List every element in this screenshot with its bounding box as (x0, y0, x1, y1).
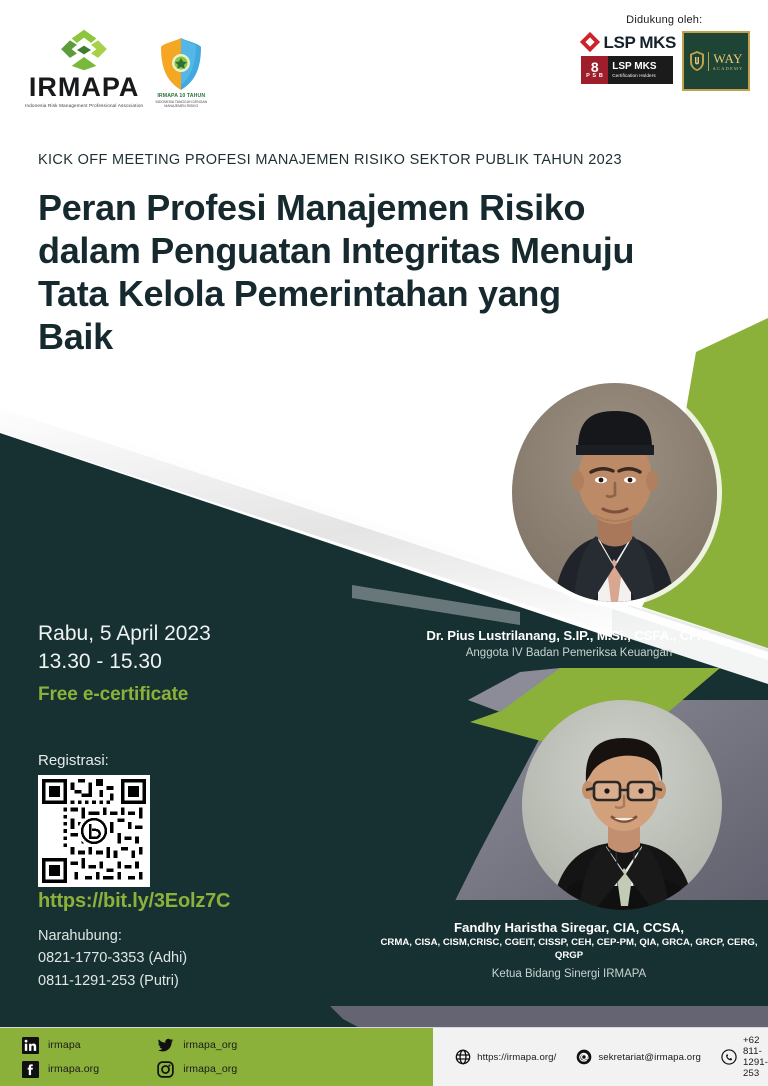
social-linkedin-handle: irmapa (48, 1039, 81, 1051)
anniversary-shield-icon (158, 37, 204, 91)
anniversary-logo: IRMAPA 10 TAHUN INDONESIA TANGGUH DENGAN… (153, 37, 209, 109)
supporters-group: Didukung oleh: LSP MKS 8 P S B (579, 14, 750, 91)
instagram-icon (157, 1061, 174, 1078)
footer-email[interactable]: sekretariat@irmapa.org (576, 1049, 701, 1065)
speaker-2-name: Fandhy Haristha Siregar, CIA, CCSA, (378, 920, 760, 935)
twitter-icon (157, 1037, 174, 1054)
social-instagram-handle: irmapa_org (183, 1063, 237, 1075)
event-certificate-badge: Free e-certificate (38, 684, 338, 706)
lsp-badge-number: 8 (591, 60, 599, 74)
registration-link[interactable]: https://bit.ly/3Eolz7C (38, 890, 230, 913)
speaker-2-role: Ketua Bidang Sinergi IRMAPA (378, 968, 760, 980)
social-instagram[interactable]: irmapa_org (157, 1061, 237, 1078)
irmapa-tagline: Indonesia Risk Management Professional A… (25, 103, 143, 108)
social-linkedin[interactable]: irmapa (22, 1037, 99, 1054)
registration-qr-code[interactable] (38, 775, 150, 887)
registration-label: Registrasi: (38, 752, 109, 769)
contact-phone-2: 0811-1291-253 (Putri) (38, 970, 187, 992)
facebook-icon (22, 1061, 39, 1078)
poster-canvas: IRMAPA Indonesia Risk Management Profess… (0, 0, 768, 1086)
contact-block: Narahubung: 0821-1770-3353 (Adhi) 0811-1… (38, 925, 187, 992)
contact-label: Narahubung: (38, 925, 187, 947)
footer-contact-panel: https://irmapa.org/ sekretariat@irmapa.o… (433, 1028, 768, 1086)
speaker-2-certifications: CRMA, CISA, CISM,CRISC, CGEIT, CISSP, CE… (378, 937, 760, 962)
footer-website-text: https://irmapa.org/ (477, 1052, 556, 1063)
anniversary-subtitle: INDONESIA TANGGUH DENGAN MANAJEMEN RISIK… (153, 100, 209, 109)
lsp-diamond-icon (579, 31, 601, 53)
social-twitter-handle: irmapa_org (183, 1039, 237, 1051)
speaker-1-name: Dr. Pius Lustrilanang, S.IP., M.Si., CSF… (378, 628, 760, 643)
lsp-badge-code: P S B (586, 74, 603, 80)
speaker-1-portrait-icon (512, 383, 717, 602)
logo-group-left: IRMAPA Indonesia Risk Management Profess… (25, 28, 209, 108)
supporters-label: Didukung oleh: (626, 14, 702, 26)
event-kicker: KICK OFF MEETING PROFESI MANAJEMEN RISIK… (38, 150, 638, 172)
speaker-1-photo (512, 383, 717, 602)
lsp-badge-subtitle: Certification Holders (612, 73, 656, 78)
anniversary-title: IRMAPA 10 TAHUN (157, 93, 205, 99)
whatsapp-icon (721, 1049, 737, 1065)
event-time: 13.30 - 15.30 (38, 648, 338, 676)
event-date: Rabu, 5 April 2023 (38, 620, 338, 648)
irmapa-wordmark: IRMAPA (29, 74, 140, 101)
contact-phone-1: 0821-1770-3353 (Adhi) (38, 947, 187, 969)
poster-header: IRMAPA Indonesia Risk Management Profess… (0, 0, 768, 118)
title-block: KICK OFF MEETING PROFESI MANAJEMEN RISIK… (38, 150, 638, 359)
page-title: Peran Profesi Manajemen Risiko dalam Pen… (38, 186, 638, 359)
globe-icon (455, 1049, 471, 1065)
footer-website[interactable]: https://irmapa.org/ (455, 1049, 556, 1065)
qr-code-icon (42, 779, 146, 883)
footer-social-col-2: irmapa_org irmapa_org (157, 1037, 237, 1078)
way-academy-logo: WAY ACADEMY (682, 31, 750, 91)
speaker-1-role: Anggota IV Badan Pemeriksa Keuangan (378, 647, 760, 659)
speaker-2-photo (522, 700, 722, 910)
lsp-mks-logo: LSP MKS 8 P S B LSP MKS Certification Ho… (579, 31, 676, 84)
speaker-1-caption: Dr. Pius Lustrilanang, S.IP., M.Si., CSF… (378, 628, 760, 659)
speaker-2-caption: Fandhy Haristha Siregar, CIA, CCSA, CRMA… (378, 920, 760, 980)
lsp-mks-wordmark: LSP MKS (604, 34, 676, 51)
lsp-badge-title: LSP MKS (612, 62, 656, 73)
way-subtitle: ACADEMY (713, 66, 744, 71)
footer-social-panel: irmapa irmapa.org irmapa_org (0, 1028, 433, 1086)
event-details: Rabu, 5 April 2023 13.30 - 15.30 Free e-… (38, 620, 338, 706)
social-twitter[interactable]: irmapa_org (157, 1037, 237, 1054)
social-facebook-handle: irmapa.org (48, 1063, 99, 1075)
footer-email-text: sekretariat@irmapa.org (598, 1052, 701, 1063)
irmapa-logo: IRMAPA Indonesia Risk Management Profess… (25, 28, 143, 108)
at-icon (576, 1049, 592, 1065)
poster-footer: irmapa irmapa.org irmapa_org (0, 1028, 768, 1086)
footer-whatsapp-text: +62 811-1291-253 (743, 1035, 768, 1079)
irmapa-mark-icon (57, 28, 111, 72)
lsp-certification-badge: 8 P S B LSP MKS Certification Holders (581, 56, 673, 84)
footer-whatsapp[interactable]: +62 811-1291-253 (721, 1035, 768, 1079)
way-wordmark: WAY (713, 52, 742, 65)
speaker-2-portrait-icon (522, 700, 722, 910)
way-shield-icon (689, 50, 705, 72)
supporters-logos: LSP MKS 8 P S B LSP MKS Certification Ho… (579, 31, 750, 91)
social-facebook[interactable]: irmapa.org (22, 1061, 99, 1078)
footer-social-col-1: irmapa irmapa.org (22, 1037, 99, 1078)
linkedin-icon (22, 1037, 39, 1054)
